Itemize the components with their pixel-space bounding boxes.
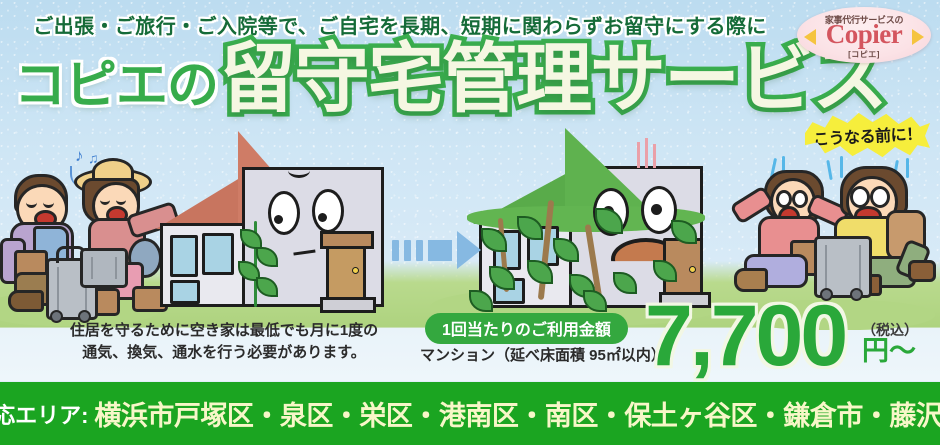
lead-copy: ご出張・ご旅行・ご入院等で、ご自宅を長期、短期に関わらずお留守にする際に [0,10,800,39]
logo-reading: [コピエ] [797,49,931,60]
suitcase-wheel [850,288,863,301]
promo-banner: ご出張・ご旅行・ご入院等で、ご自宅を長期、短期に関わらずお留守にする際に コピエ… [0,0,940,445]
handbag [80,248,128,288]
headline-main: 留守宅管理サービス [220,44,886,116]
man-shoe [908,260,936,282]
man-shoe [8,290,44,312]
price-unit: 円〜 [862,338,916,365]
price-condition: マンション（延べ床面積 95㎡以内） [420,344,666,365]
right-arrow-icon [392,231,481,269]
house-pupil [274,215,283,224]
service-note: 住居を守るために空き家は最低でも月に1度の 通気、換気、通水を行う必要があります… [58,320,390,364]
music-note-icon: ♪ [75,146,84,166]
page-title: コピエの 留守宅管理サービス [14,44,886,116]
door-knob [352,267,359,274]
arrow-head [457,231,481,269]
house-pupil [318,213,327,222]
roof-left [156,173,248,229]
house-brow [288,163,310,178]
arrow-body [428,240,452,261]
window [202,233,234,275]
shock-line [840,156,843,178]
service-area-label: 対応エリア: [0,398,88,430]
window [170,235,198,277]
house-eye [268,191,300,235]
door-knob [689,266,696,273]
house-with-face [160,125,380,320]
service-area-bar: 対応エリア: 横浜市戸塚区・泉区・栄区・港南区・南区・保土ヶ谷区・鎌倉市・藤沢市 [0,382,940,445]
service-note-line2: 通気、換気、通水を行う必要があります。 [58,342,390,364]
headline-prefix: コピエの [14,61,218,112]
arrow-dash [392,240,399,261]
service-note-line1: 住居を守るために空き家は最低でも月に1度の [58,320,390,342]
service-area-list: 横浜市戸塚区・泉区・栄区・港南区・南区・保土ヶ谷区・鎌倉市・藤沢市 [94,394,940,433]
window [170,280,200,304]
house-eye [312,189,344,233]
arrow-dash [404,240,411,261]
shocked-couple-illustration [730,150,940,310]
starburst-text: こうなる前に！ [813,120,923,150]
woman-eye [792,190,808,208]
house-pupil [651,204,662,215]
stress-line [645,138,648,168]
shock-line [826,160,832,180]
man-eye [870,186,890,208]
copier-logo[interactable]: 家事代行サービスの Copier [コピエ] [797,7,931,63]
stress-line [637,142,640,168]
price-amount: 7,700 [645,293,845,379]
arrow-dash [416,240,423,261]
stress-line [653,144,656,168]
man-eye [850,186,870,208]
door-step [320,297,376,313]
shock-line [906,158,909,178]
door-canopy [320,231,374,249]
logo-name: Copier [797,21,931,48]
price-pill-label: 1回当たりのご利用金額 [425,313,628,344]
